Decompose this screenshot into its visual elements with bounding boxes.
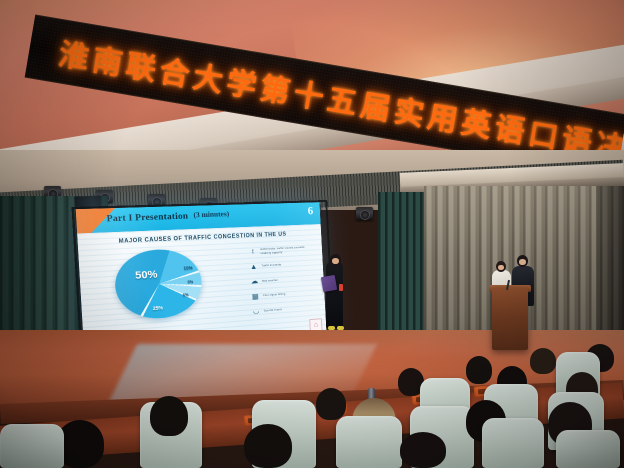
weather-cloud-icon: ☁ (250, 277, 260, 287)
audience-head (244, 424, 292, 468)
audience-head (466, 356, 492, 384)
legend-label: Traffic incidents (261, 264, 281, 269)
legend-item: ☁ Bad weather (250, 273, 316, 286)
audience-head (150, 396, 188, 436)
audience-seat (336, 416, 402, 468)
legend-label: Bad weather (262, 279, 278, 284)
presenter-folder (321, 275, 337, 292)
stage-spotlight (356, 207, 373, 220)
legend-item: ▦ Poor signal timing (250, 288, 316, 302)
traffic-bottleneck-icon: ↕ (248, 247, 258, 257)
stage-spotlight (148, 194, 165, 207)
slide-header-subtitle: (3 minutes) (193, 210, 229, 220)
crash-icon: ▲ (249, 262, 259, 272)
presenter-face (332, 258, 339, 264)
audience-head (530, 348, 556, 374)
legend-item: ◡ Special events (251, 302, 317, 316)
legend-label: Special events (264, 308, 283, 313)
pie-label-5a: 5% (187, 280, 193, 285)
audience-seat (0, 424, 64, 468)
auditorium-photo: 淮南联合大学第十五届实用英语口语决赛 Part I Presentation (… (0, 0, 624, 468)
traffic-signal-icon: ▦ (250, 292, 260, 302)
special-event-icon: ◡ (251, 307, 261, 317)
host-left-face (498, 265, 504, 270)
pie-label-5b: 5% (183, 293, 189, 298)
presenter-shoe (337, 326, 344, 330)
host-right-face (519, 259, 526, 265)
audience-seat (482, 418, 544, 468)
presenter-badge (339, 284, 343, 291)
chart-title: MAJOR CAUSES OF TRAFFIC CONGESTION IN TH… (78, 230, 322, 247)
chart-legend: ↕ Bottlenecks: traffic volume exceeds ro… (248, 244, 318, 322)
pie-label-15: 15% (183, 265, 192, 271)
audience-head (400, 432, 446, 468)
audience-seat (556, 430, 620, 468)
presenter-shoe (328, 326, 335, 330)
audience-head (316, 388, 346, 420)
legend-item: ▲ Traffic incidents (249, 259, 315, 272)
pie-label-50: 50% (135, 269, 158, 282)
pie-label-25: 25% (153, 305, 163, 311)
slide-number: 6 (307, 205, 313, 217)
legend-label: Poor signal timing (263, 293, 286, 298)
legend-item: ↕ Bottlenecks: traffic volume exceeds ro… (248, 244, 314, 256)
presenter-body (326, 262, 343, 328)
legend-label: Bottlenecks: traffic volume exceeds road… (260, 245, 314, 255)
podium (492, 288, 528, 350)
